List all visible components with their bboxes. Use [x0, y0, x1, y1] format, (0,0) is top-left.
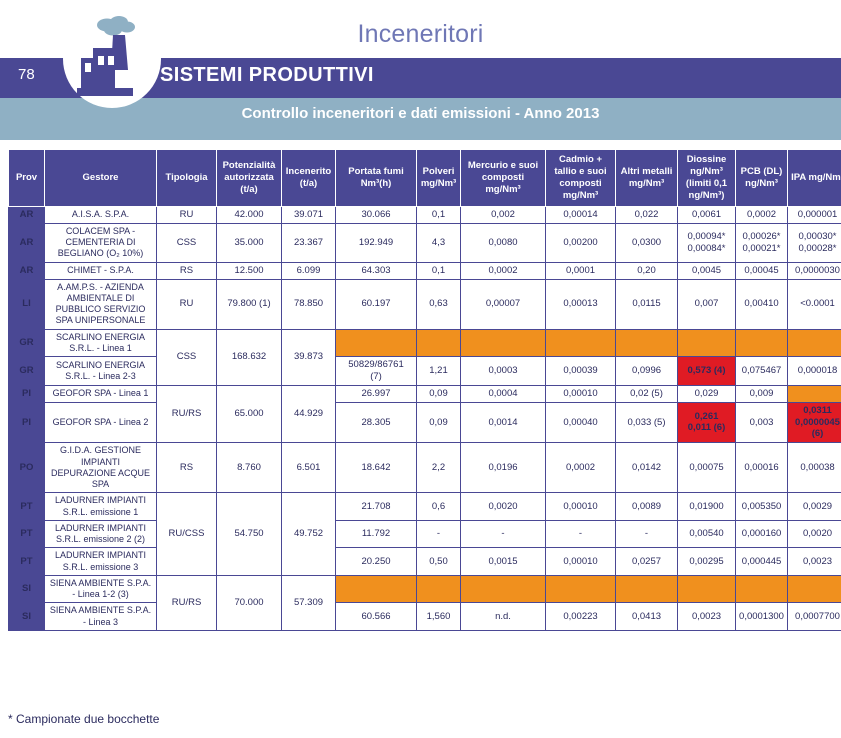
col-portata-fumi: Portata fumi Nm³(h) [336, 150, 417, 207]
table-row: LIA.AM.P.S. - AZIENDA AMBIENTALE DI PUBB… [9, 279, 841, 329]
cell-portata-fumi: 28.305 [336, 402, 417, 443]
cell-portata-fumi: 26.997 [336, 385, 417, 402]
cell-altri-metalli: 0,033 (5) [616, 402, 678, 443]
cell-ipa: 0,0029 [788, 493, 841, 521]
cell-mercurio [461, 329, 546, 357]
cell-pcb: 0,00410 [736, 279, 788, 329]
col-altri-metalli: Altri metalli mg/Nm³ [616, 150, 678, 207]
table-row: POG.I.D.A. GESTIONE IMPIANTI DEPURAZIONE… [9, 443, 841, 493]
cell-pcb: 0,00045 [736, 262, 788, 279]
cell-altri-metalli: 0,02 (5) [616, 385, 678, 402]
cell-portata-fumi: 21.708 [336, 493, 417, 521]
cell-polveri [417, 575, 461, 603]
cell-potenzialita: 65.000 [217, 385, 282, 443]
cell-tipologia: RU/CSS [157, 493, 217, 576]
cell-ipa: 0,03110,0000045(6) [788, 402, 841, 443]
cell-gestore: SIENA AMBIENTE S.P.A. - Linea 1-2 (3) [45, 575, 157, 603]
cell-cadmio-tallio: 0,00014 [546, 207, 616, 224]
cell-incenerito: 39.873 [282, 329, 336, 385]
cell-portata-fumi: 60.566 [336, 603, 417, 631]
cell-ipa: 0,0023 [788, 548, 841, 576]
cell-prov: LI [9, 279, 45, 329]
cell-diossine [678, 575, 736, 603]
cell-ipa: 0,0020 [788, 520, 841, 548]
cell-cadmio-tallio [546, 575, 616, 603]
cell-incenerito: 6.501 [282, 443, 336, 493]
cell-mercurio: 0,0080 [461, 223, 546, 262]
col-polveri: Polveri mg/Nm³ [417, 150, 461, 207]
cell-portata-fumi [336, 329, 417, 357]
cell-potenzialita: 70.000 [217, 575, 282, 630]
cell-polveri: 2,2 [417, 443, 461, 493]
cell-ipa [788, 385, 841, 402]
cell-gestore: GEOFOR SPA - Linea 2 [45, 402, 157, 443]
cell-altri-metalli: 0,0089 [616, 493, 678, 521]
factory-icon [63, 8, 161, 108]
cell-portata-fumi: 18.642 [336, 443, 417, 493]
cell-tipologia: RU/RS [157, 575, 217, 630]
cell-cadmio-tallio: 0,00013 [546, 279, 616, 329]
cell-gestore: LADURNER IMPIANTI S.R.L. emissione 2 (2) [45, 520, 157, 548]
table-row: PTLADURNER IMPIANTI S.R.L. emissione 2 (… [9, 520, 841, 548]
cell-altri-metalli: 0,0996 [616, 357, 678, 386]
cell-polveri [417, 329, 461, 357]
cell-pcb: 0,009 [736, 385, 788, 402]
cell-cadmio-tallio: 0,00010 [546, 548, 616, 576]
cell-diossine: 0,007 [678, 279, 736, 329]
cell-altri-metalli [616, 329, 678, 357]
col-prov: Prov [9, 150, 45, 207]
cell-mercurio: n.d. [461, 603, 546, 631]
cell-cadmio-tallio: 0,00039 [546, 357, 616, 386]
cell-pcb: 0,00026*0,00021* [736, 223, 788, 262]
cell-tipologia: RS [157, 262, 217, 279]
cell-tipologia: CSS [157, 329, 217, 385]
table-row: PTLADURNER IMPIANTI S.R.L. emissione 320… [9, 548, 841, 576]
table-row: PTLADURNER IMPIANTI S.R.L. emissione 1RU… [9, 493, 841, 521]
cell-polveri: - [417, 520, 461, 548]
cell-polveri: 0,63 [417, 279, 461, 329]
cell-gestore: A.AM.P.S. - AZIENDA AMBIENTALE DI PUBBLI… [45, 279, 157, 329]
cell-incenerito: 6.099 [282, 262, 336, 279]
cell-polveri: 0,09 [417, 402, 461, 443]
page-number: 78 [18, 66, 35, 83]
cell-prov: PT [9, 493, 45, 521]
table-row: ARA.I.S.A. S.P.A.RU42.00039.07130.0660,1… [9, 207, 841, 224]
cell-incenerito: 78.850 [282, 279, 336, 329]
cell-cadmio-tallio: 0,00200 [546, 223, 616, 262]
cell-diossine: 0,00094*0,00084* [678, 223, 736, 262]
cell-diossine: 0,0061 [678, 207, 736, 224]
cell-mercurio: 0,002 [461, 207, 546, 224]
cell-polveri: 0,1 [417, 207, 461, 224]
cell-diossine [678, 329, 736, 357]
cell-prov: PI [9, 385, 45, 402]
cell-cadmio-tallio: 0,00010 [546, 385, 616, 402]
cell-prov: PO [9, 443, 45, 493]
cell-polveri: 4,3 [417, 223, 461, 262]
cell-prov: AR [9, 223, 45, 262]
cell-prov: GR [9, 357, 45, 386]
table-header-row: Prov Gestore Tipologia Potenzialità auto… [9, 150, 841, 207]
cell-potenzialita: 8.760 [217, 443, 282, 493]
col-incenerito: Incenerito (t/a) [282, 150, 336, 207]
table-row: GRSCARLINO ENERGIA S.R.L. - Linea 1CSS16… [9, 329, 841, 357]
cell-diossine: 0,573 (4) [678, 357, 736, 386]
cell-portata-fumi: 30.066 [336, 207, 417, 224]
cell-pcb: 0,003 [736, 402, 788, 443]
table-row: ARCHIMET - S.P.A.RS12.5006.09964.3030,10… [9, 262, 841, 279]
cell-mercurio: 0,0014 [461, 402, 546, 443]
col-diossine: Diossine ng/Nm³ (limiti 0,1 ng/Nm³) [678, 150, 736, 207]
table-row: GRSCARLINO ENERGIA S.R.L. - Linea 2-3508… [9, 357, 841, 386]
cell-cadmio-tallio: 0,00223 [546, 603, 616, 631]
cell-ipa [788, 575, 841, 603]
cell-pcb: 0,00016 [736, 443, 788, 493]
cell-potenzialita: 12.500 [217, 262, 282, 279]
cell-ipa: 0,00038 [788, 443, 841, 493]
cell-mercurio: 0,0002 [461, 262, 546, 279]
cell-cadmio-tallio: 0,0001 [546, 262, 616, 279]
page-subtitle: Controllo inceneritori e dati emissioni … [0, 105, 841, 122]
cell-mercurio [461, 575, 546, 603]
cell-gestore: CHIMET - S.P.A. [45, 262, 157, 279]
cell-gestore: SIENA AMBIENTE S.P.A. - Linea 3 [45, 603, 157, 631]
cell-potenzialita: 79.800 (1) [217, 279, 282, 329]
cell-pcb: 0,0001300 [736, 603, 788, 631]
cell-gestore: SCARLINO ENERGIA S.R.L. - Linea 2-3 [45, 357, 157, 386]
cell-pcb [736, 329, 788, 357]
cell-ipa: 0,000001 [788, 207, 841, 224]
cell-pcb: 0,0002 [736, 207, 788, 224]
cell-gestore: GEOFOR SPA - Linea 1 [45, 385, 157, 402]
cell-incenerito: 44.929 [282, 385, 336, 443]
cell-portata-fumi: 192.949 [336, 223, 417, 262]
cell-altri-metalli: 0,0115 [616, 279, 678, 329]
cell-tipologia: RU [157, 279, 217, 329]
cell-mercurio: - [461, 520, 546, 548]
cell-mercurio: 0,0196 [461, 443, 546, 493]
cell-mercurio: 0,0015 [461, 548, 546, 576]
cell-diossine: 0,00295 [678, 548, 736, 576]
cell-ipa: 0,0007700 [788, 603, 841, 631]
cell-cadmio-tallio: 0,0002 [546, 443, 616, 493]
cell-tipologia: RS [157, 443, 217, 493]
emissions-table-wrapper: Prov Gestore Tipologia Potenzialità auto… [8, 149, 833, 631]
cell-potenzialita: 42.000 [217, 207, 282, 224]
col-gestore: Gestore [45, 150, 157, 207]
cell-polveri: 1,560 [417, 603, 461, 631]
cell-altri-metalli: - [616, 520, 678, 548]
cell-diossine: 0,029 [678, 385, 736, 402]
cell-prov: SI [9, 603, 45, 631]
cell-polveri: 0,50 [417, 548, 461, 576]
cell-potenzialita: 168.632 [217, 329, 282, 385]
cell-cadmio-tallio [546, 329, 616, 357]
cell-altri-metalli: 0,20 [616, 262, 678, 279]
cell-prov: AR [9, 207, 45, 224]
table-row: SISIENA AMBIENTE S.P.A. - Linea 360.5661… [9, 603, 841, 631]
cell-incenerito: 49.752 [282, 493, 336, 576]
cell-mercurio: 0,0004 [461, 385, 546, 402]
cell-incenerito: 39.071 [282, 207, 336, 224]
cell-prov: SI [9, 575, 45, 603]
cell-mercurio: 0,0020 [461, 493, 546, 521]
cell-potenzialita: 35.000 [217, 223, 282, 262]
cell-mercurio: 0,00007 [461, 279, 546, 329]
cell-pcb: 0,075467 [736, 357, 788, 386]
col-pcb: PCB (DL) ng/Nm³ [736, 150, 788, 207]
cell-portata-fumi: 11.792 [336, 520, 417, 548]
cell-incenerito: 57.309 [282, 575, 336, 630]
cell-ipa: <0.0001 [788, 279, 841, 329]
cell-pcb [736, 575, 788, 603]
footnote: * Campionate due bocchette [8, 712, 159, 726]
table-row: PIGEOFOR SPA - Linea 1RU/RS65.00044.9292… [9, 385, 841, 402]
cell-gestore: G.I.D.A. GESTIONE IMPIANTI DEPURAZIONE A… [45, 443, 157, 493]
col-ipa: IPA mg/Nm³ [788, 150, 841, 207]
cell-diossine: 0,00075 [678, 443, 736, 493]
cell-ipa: 0,00030*0,00028* [788, 223, 841, 262]
table-row: PIGEOFOR SPA - Linea 228.3050,090,00140,… [9, 402, 841, 443]
cell-prov: PT [9, 548, 45, 576]
cell-gestore: COLACEM SPA - CEMENTERIA DI BEGLIANO (O₂… [45, 223, 157, 262]
cell-prov: PT [9, 520, 45, 548]
cell-portata-fumi: 20.250 [336, 548, 417, 576]
cell-tipologia: CSS [157, 223, 217, 262]
cell-portata-fumi: 60.197 [336, 279, 417, 329]
cell-polveri: 0,09 [417, 385, 461, 402]
cell-ipa: 0,0000030 [788, 262, 841, 279]
cell-gestore: SCARLINO ENERGIA S.R.L. - Linea 1 [45, 329, 157, 357]
cell-ipa [788, 329, 841, 357]
cell-mercurio: 0,0003 [461, 357, 546, 386]
cell-altri-metalli: 0,022 [616, 207, 678, 224]
section-title: SISTEMI PRODUTTIVI [160, 64, 374, 87]
cell-gestore: LADURNER IMPIANTI S.R.L. emissione 3 [45, 548, 157, 576]
col-potenzialita: Potenzialità autorizzata (t/a) [217, 150, 282, 207]
col-tipologia: Tipologia [157, 150, 217, 207]
cell-altri-metalli: 0,0257 [616, 548, 678, 576]
cell-cadmio-tallio: 0,00010 [546, 493, 616, 521]
cell-diossine: 0,0045 [678, 262, 736, 279]
col-mercurio: Mercurio e suoi composti mg/Nm³ [461, 150, 546, 207]
cell-cadmio-tallio: 0,00040 [546, 402, 616, 443]
cell-pcb: 0,005350 [736, 493, 788, 521]
table-row: ARCOLACEM SPA - CEMENTERIA DI BEGLIANO (… [9, 223, 841, 262]
cell-altri-metalli: 0,0142 [616, 443, 678, 493]
cell-portata-fumi [336, 575, 417, 603]
cell-portata-fumi: 50829/86761(7) [336, 357, 417, 386]
cell-cadmio-tallio: - [546, 520, 616, 548]
cell-portata-fumi: 64.303 [336, 262, 417, 279]
page-header: Inceneritori 78 SISTEMI PRODUTTIVI Contr… [0, 0, 841, 140]
cell-prov: GR [9, 329, 45, 357]
cell-diossine: 0,00540 [678, 520, 736, 548]
cell-ipa: 0,000018 [788, 357, 841, 386]
col-cadmio-tallio: Cadmio + tallio e suoi composti mg/Nm³ [546, 150, 616, 207]
cell-gestore: A.I.S.A. S.P.A. [45, 207, 157, 224]
cell-altri-metalli: 0,0413 [616, 603, 678, 631]
cell-polveri: 0,6 [417, 493, 461, 521]
cell-diossine: 0,01900 [678, 493, 736, 521]
cell-polveri: 0,1 [417, 262, 461, 279]
cell-diossine: 0,2610,011 (6) [678, 402, 736, 443]
cell-incenerito: 23.367 [282, 223, 336, 262]
cell-prov: AR [9, 262, 45, 279]
cell-pcb: 0,000445 [736, 548, 788, 576]
cell-diossine: 0,0023 [678, 603, 736, 631]
cell-potenzialita: 54.750 [217, 493, 282, 576]
cell-tipologia: RU [157, 207, 217, 224]
cell-prov: PI [9, 402, 45, 443]
cell-polveri: 1,21 [417, 357, 461, 386]
cell-tipologia: RU/RS [157, 385, 217, 443]
table-body: ARA.I.S.A. S.P.A.RU42.00039.07130.0660,1… [9, 207, 841, 631]
table-row: SISIENA AMBIENTE S.P.A. - Linea 1-2 (3)R… [9, 575, 841, 603]
cell-gestore: LADURNER IMPIANTI S.R.L. emissione 1 [45, 493, 157, 521]
cell-pcb: 0,000160 [736, 520, 788, 548]
cell-altri-metalli [616, 575, 678, 603]
cell-altri-metalli: 0,0300 [616, 223, 678, 262]
emissions-table: Prov Gestore Tipologia Potenzialità auto… [8, 149, 841, 631]
